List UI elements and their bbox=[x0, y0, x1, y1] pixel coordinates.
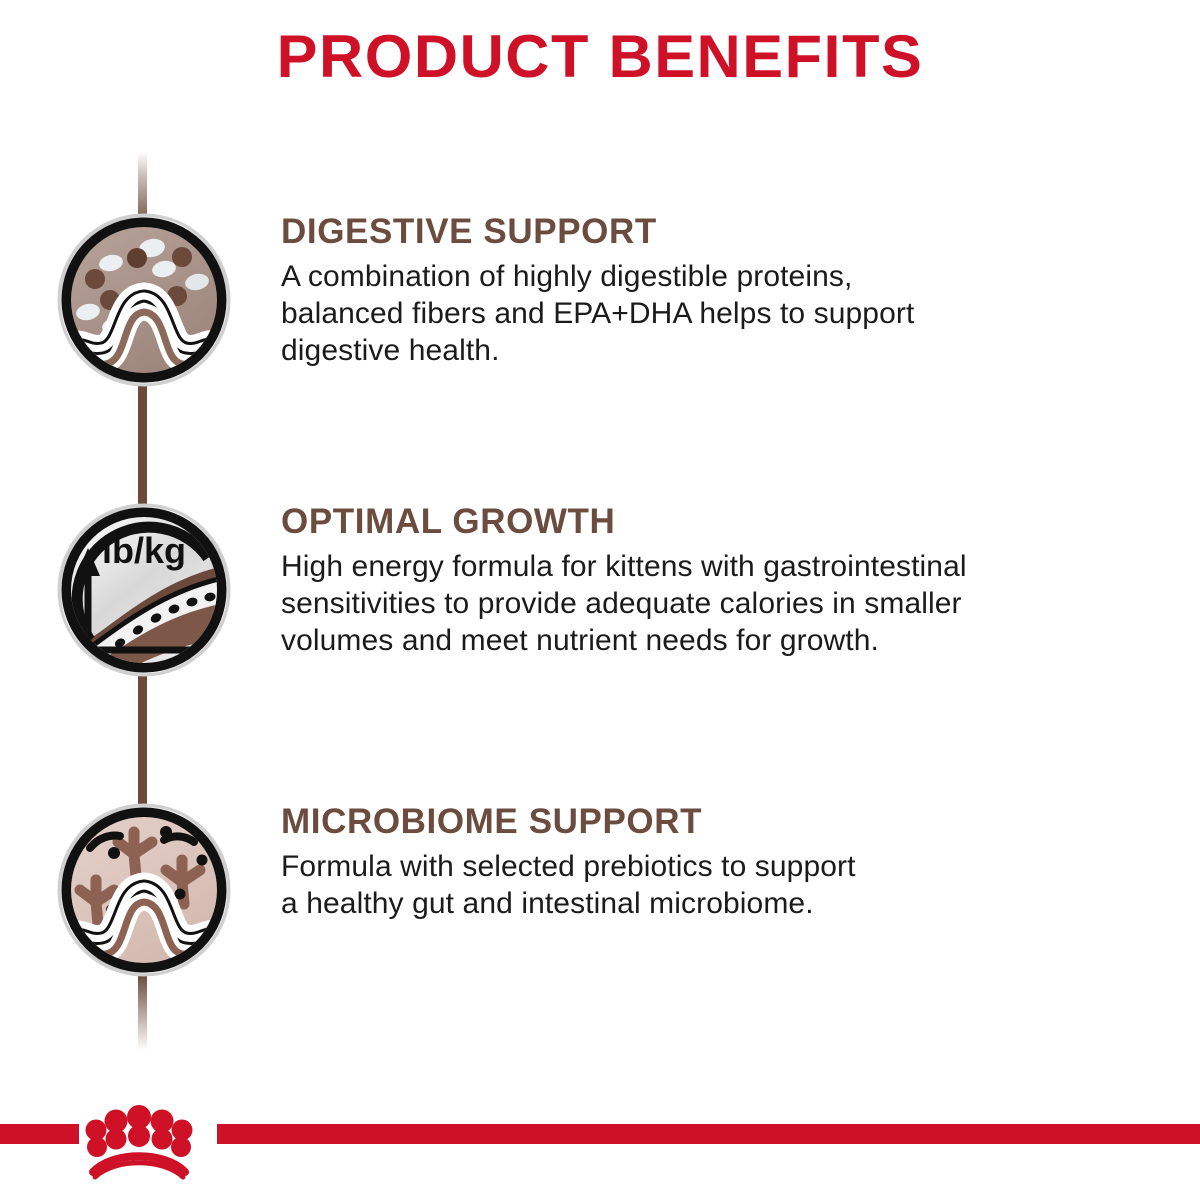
benefit-body: High energy formula for kittens with gas… bbox=[281, 548, 1171, 659]
timeline-rail-segment-2 bbox=[138, 676, 147, 808]
benefit-body-line: digestive health. bbox=[281, 332, 1171, 369]
benefit-text-block: DIGESTIVE SUPPORT A combination of highl… bbox=[281, 212, 1171, 369]
optimal-growth-icon: lb/kg bbox=[56, 502, 232, 678]
benefit-body: Formula with selected prebiotics to supp… bbox=[281, 848, 1171, 922]
royal-canin-crown-logo bbox=[83, 1100, 195, 1180]
benefit-body-line: Formula with selected prebiotics to supp… bbox=[281, 848, 1171, 885]
microbiome-support-icon bbox=[56, 802, 232, 978]
footer-rule-right bbox=[217, 1124, 1200, 1144]
benefit-body-line: a healthy gut and intestinal microbiome. bbox=[281, 885, 1171, 922]
benefit-heading: MICROBIOME SUPPORT bbox=[281, 802, 1171, 842]
footer-rule-left bbox=[0, 1124, 79, 1144]
benefit-text-block: MICROBIOME SUPPORT Formula with selected… bbox=[281, 802, 1171, 922]
timeline-rail-bottom bbox=[138, 976, 147, 1050]
benefit-text-block: OPTIMAL GROWTH High energy formula for k… bbox=[281, 502, 1171, 659]
optimal-growth-icon-label: lb/kg bbox=[102, 530, 186, 571]
timeline-rail-segment-1 bbox=[138, 386, 147, 514]
benefit-body-line: balanced fibers and EPA+DHA helps to sup… bbox=[281, 295, 1171, 332]
benefit-body: A combination of highly digestible prote… bbox=[281, 258, 1171, 369]
benefit-heading: OPTIMAL GROWTH bbox=[281, 502, 1171, 542]
footer bbox=[0, 1100, 1200, 1199]
benefit-body-line: volumes and meet nutrient needs for grow… bbox=[281, 622, 1171, 659]
benefit-body-line: sensitivities to provide adequate calori… bbox=[281, 585, 1171, 622]
benefit-body-line: A combination of highly digestible prote… bbox=[281, 258, 1171, 295]
benefit-heading: DIGESTIVE SUPPORT bbox=[281, 212, 1171, 252]
page-title: PRODUCT BENEFITS bbox=[0, 22, 1200, 91]
benefit-body-line: High energy formula for kittens with gas… bbox=[281, 548, 1171, 585]
digestive-support-icon bbox=[56, 212, 232, 388]
